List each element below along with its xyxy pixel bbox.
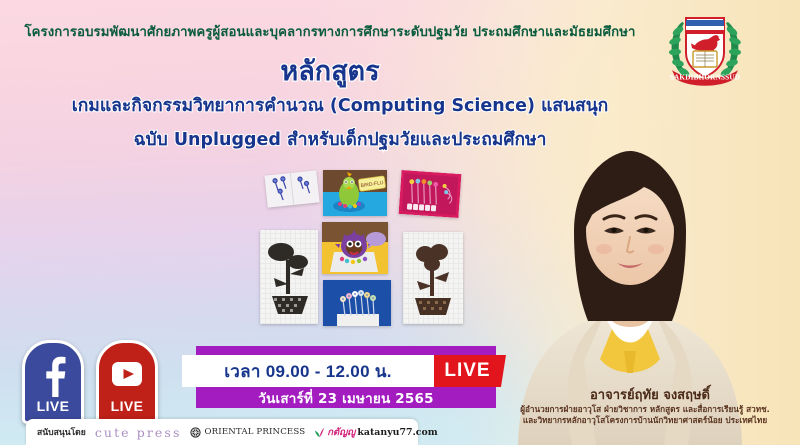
collage-photo-pins-on-white-paper xyxy=(264,170,319,207)
crest-motto: SAKDIBHORNSSUD xyxy=(670,74,740,82)
program-header-line: โครงการอบรมพัฒนาศักยภาพครูผู้สอนและบุคลา… xyxy=(0,26,660,41)
collage-photo-grid-flower-pot xyxy=(260,230,318,324)
poster-root: SAKDIBHORNSSUD โครงการอบรมพัฒนาศักยภาพคร… xyxy=(0,0,800,445)
photo-collage: BIRD-FLU xyxy=(258,166,470,326)
facebook-icon xyxy=(25,347,81,399)
sponsor-bar: สนับสนุนโดย cute press ORIENTAL PRINCESS… xyxy=(26,419,418,445)
katanyu-label-th: กตัญญู xyxy=(327,425,355,440)
live-badge-label: LIVE xyxy=(444,360,490,382)
facebook-live-label: LIVE xyxy=(25,398,81,414)
collage-photo-green-bird-craft: BIRD-FLU xyxy=(323,170,387,216)
collage-photo-blue-board-sticks xyxy=(323,280,391,326)
oriental-princess-label: ORIENTAL PRINCESS xyxy=(204,427,305,437)
youtube-icon xyxy=(99,349,155,401)
sponsor-cute-press[interactable]: cute press xyxy=(95,425,182,440)
youtube-live-badge[interactable]: LIVE xyxy=(96,340,158,424)
schedule-date-text: วันเสาร์ที่ 23 เมษายน 2565 xyxy=(196,387,496,408)
collage-photo-pink-board-pins xyxy=(399,170,462,218)
live-badge: LIVE xyxy=(434,355,506,387)
school-crest-icon: SAKDIBHORNSSUD xyxy=(662,6,748,90)
course-subtitle-1: เกมและกิจกรรมวิทยาการคำนวณ (Computing Sc… xyxy=(0,97,680,116)
sponsor-oriental-princess[interactable]: ORIENTAL PRINCESS xyxy=(190,427,305,438)
youtube-live-label: LIVE xyxy=(99,398,155,414)
sponsor-label: สนับสนุนโดย xyxy=(37,425,86,439)
collage-photo-purple-monster-craft xyxy=(322,222,388,274)
schedule-time-text: เวลา 09.00 - 12.00 น. xyxy=(182,355,434,387)
speaker-role-1: ผู้อำนวยการฝ่ายอาวุโส ฝ่ายวิชาการ หลักสู… xyxy=(490,404,800,414)
speaker-role-2: และวิทยากรหลักอาวุโสโครงการบ้านนักวิทยาศ… xyxy=(490,415,800,425)
collage-photo-grid-brown-flower xyxy=(403,232,463,324)
page-title: หลักสูตร xyxy=(0,58,660,86)
schedule-top-bar xyxy=(196,346,496,355)
facebook-live-badge[interactable]: LIVE xyxy=(22,340,84,424)
speaker-name: อาจารย์ฤทัย จงสฤษดิ์ xyxy=(500,389,800,404)
katanyu-label-url: katanyu77.com xyxy=(357,427,437,438)
sponsor-katanyu[interactable]: กตัญญู katanyu77.com xyxy=(314,425,437,440)
oriental-princess-icon xyxy=(190,427,201,438)
katanyu-leaf-icon xyxy=(314,427,325,438)
